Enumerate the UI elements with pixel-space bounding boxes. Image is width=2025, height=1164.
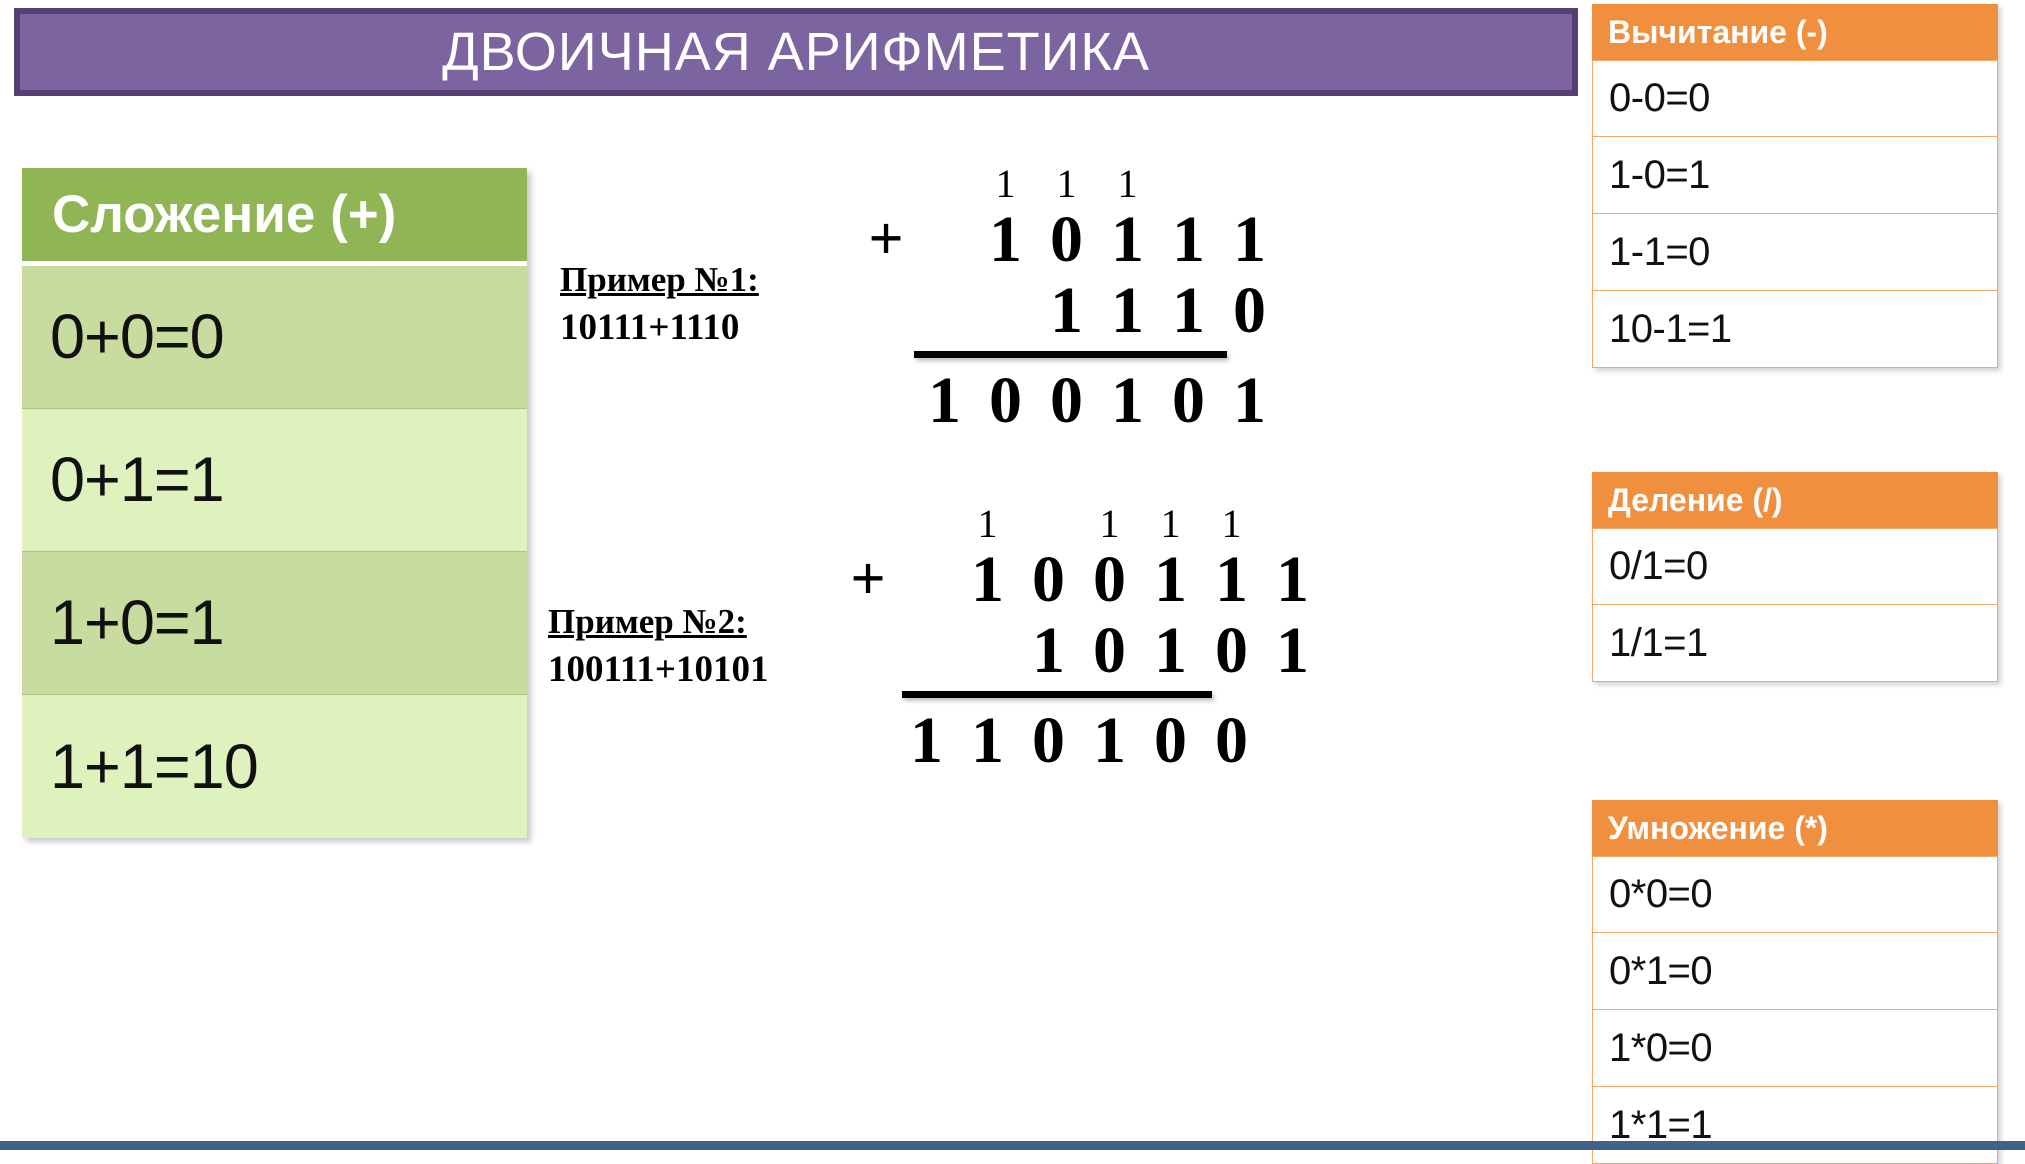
operand-digit: 1 — [1262, 544, 1323, 615]
example-1-carry-row: 1 1 1 — [858, 160, 1280, 204]
carry-digit: 1 — [1140, 504, 1201, 544]
operand-digit: 1 — [1158, 204, 1219, 275]
multiplication-rule-row: 0*0=0 — [1592, 856, 1998, 933]
slide-footer-bar — [0, 1141, 2025, 1150]
multiplication-rule-row: 0*1=0 — [1592, 933, 1998, 1010]
example-1-result-row: 1 0 0 1 0 1 — [858, 364, 1280, 438]
carry-digit: 1 — [1097, 164, 1158, 204]
result-digit: 0 — [975, 364, 1036, 438]
operand-digit: 1 — [1018, 615, 1079, 686]
operand-digit: 1 — [1140, 615, 1201, 686]
operand-digit: 1 — [1262, 615, 1323, 686]
operand-digit: 0 — [1219, 275, 1280, 346]
subtraction-rule-row: 0-0=0 — [1592, 60, 1998, 137]
result-digit: 1 — [1079, 704, 1140, 778]
example-2-carry-row: 1 1 1 1 — [840, 500, 1323, 544]
addition-rules-table: Сложение (+) 0+0=0 0+1=1 1+0=1 1+1=10 — [22, 168, 527, 838]
example-2-result-row: 1 1 0 1 0 0 — [840, 704, 1323, 778]
result-digit: 1 — [914, 364, 975, 438]
result-digit: 0 — [1036, 364, 1097, 438]
addition-rule-row: 1+1=10 — [22, 695, 527, 838]
multiplication-rules-table: Умножение (*) 0*0=0 0*1=0 1*0=0 1*1=1 — [1592, 800, 1998, 1164]
operand-digit: 1 — [1219, 204, 1280, 275]
example-2-operand-1-row: + 1 0 0 1 1 1 — [840, 544, 1323, 615]
slide-title-bar: ДВОИЧНАЯ АРИФМЕТИКА — [14, 8, 1578, 96]
addition-rule-row: 0+0=0 — [22, 266, 527, 409]
carry-digit: 1 — [957, 504, 1018, 544]
carry-digit: 1 — [1201, 504, 1262, 544]
division-table-header: Деление (/) — [1592, 472, 1998, 528]
example-2-column-addition: 1 1 1 1 + 1 0 0 1 1 1 1 0 1 0 1 1 1 0 1 … — [840, 500, 1323, 777]
example-1-operand-2-row: 1 1 1 0 — [858, 275, 1280, 346]
operand-digit: 1 — [1097, 204, 1158, 275]
example-1-operand-1-row: + 1 0 1 1 1 — [858, 204, 1280, 275]
example-1-label: Пример №1: 10111+1110 — [560, 258, 759, 354]
addition-table-header-label: Сложение (+) — [52, 188, 396, 241]
example-2-label: Пример №2: 100111+10101 — [548, 600, 769, 696]
subtraction-rule-row: 1-0=1 — [1592, 137, 1998, 214]
operand-digit: 0 — [1018, 544, 1079, 615]
example-1-expression: 10111+1110 — [560, 302, 759, 354]
example-2-caption: Пример №2: — [548, 600, 769, 644]
operand-digit: 1 — [975, 204, 1036, 275]
result-digit: 1 — [896, 704, 957, 778]
result-digit: 1 — [957, 704, 1018, 778]
subtraction-rule-row: 1-1=0 — [1592, 214, 1998, 291]
example-2-sum-rule — [902, 691, 1212, 698]
example-2-expression: 100111+10101 — [548, 644, 769, 696]
operand-digit: 1 — [957, 544, 1018, 615]
multiplication-table-header: Умножение (*) — [1592, 800, 1998, 856]
carry-digit: 1 — [1079, 504, 1140, 544]
example-1-column-addition: 1 1 1 + 1 0 1 1 1 1 1 1 0 1 0 0 1 0 1 — [858, 160, 1280, 437]
carry-digit: 1 — [1036, 164, 1097, 204]
operand-digit: 1 — [1097, 275, 1158, 346]
operand-digit: 1 — [1140, 544, 1201, 615]
multiplication-rule-row: 1*0=0 — [1592, 1010, 1998, 1087]
subtraction-rules-table: Вычитание (-) 0-0=0 1-0=1 1-1=0 10-1=1 — [1592, 4, 1998, 368]
example-1-caption: Пример №1: — [560, 258, 759, 302]
result-digit: 0 — [1018, 704, 1079, 778]
page-title: ДВОИЧНАЯ АРИФМЕТИКА — [442, 25, 1150, 79]
example-1-sum-rule — [914, 351, 1227, 358]
addition-table-header: Сложение (+) — [22, 168, 527, 266]
subtraction-table-header: Вычитание (-) — [1592, 4, 1998, 60]
result-digit: 0 — [1201, 704, 1262, 778]
operand-digit: 0 — [1201, 615, 1262, 686]
addition-rule-row: 0+1=1 — [22, 409, 527, 552]
carry-digit: 1 — [975, 164, 1036, 204]
division-rule-row: 0/1=0 — [1592, 528, 1998, 605]
plus-operator: + — [858, 206, 914, 273]
plus-operator: + — [840, 546, 896, 613]
operand-digit: 0 — [1036, 204, 1097, 275]
operand-digit: 1 — [1158, 275, 1219, 346]
addition-rule-row: 1+0=1 — [22, 552, 527, 695]
operand-digit: 0 — [1079, 615, 1140, 686]
division-rules-table: Деление (/) 0/1=0 1/1=1 — [1592, 472, 1998, 682]
subtraction-rule-row: 10-1=1 — [1592, 291, 1998, 368]
result-digit: 0 — [1158, 364, 1219, 438]
operand-digit: 0 — [1079, 544, 1140, 615]
result-digit: 1 — [1097, 364, 1158, 438]
multiplication-rule-row: 1*1=1 — [1592, 1087, 1998, 1164]
result-digit: 1 — [1219, 364, 1280, 438]
example-2-operand-2-row: 1 0 1 0 1 — [840, 615, 1323, 686]
operand-digit: 1 — [1036, 275, 1097, 346]
division-rule-row: 1/1=1 — [1592, 605, 1998, 682]
result-digit: 0 — [1140, 704, 1201, 778]
operand-digit: 1 — [1201, 544, 1262, 615]
